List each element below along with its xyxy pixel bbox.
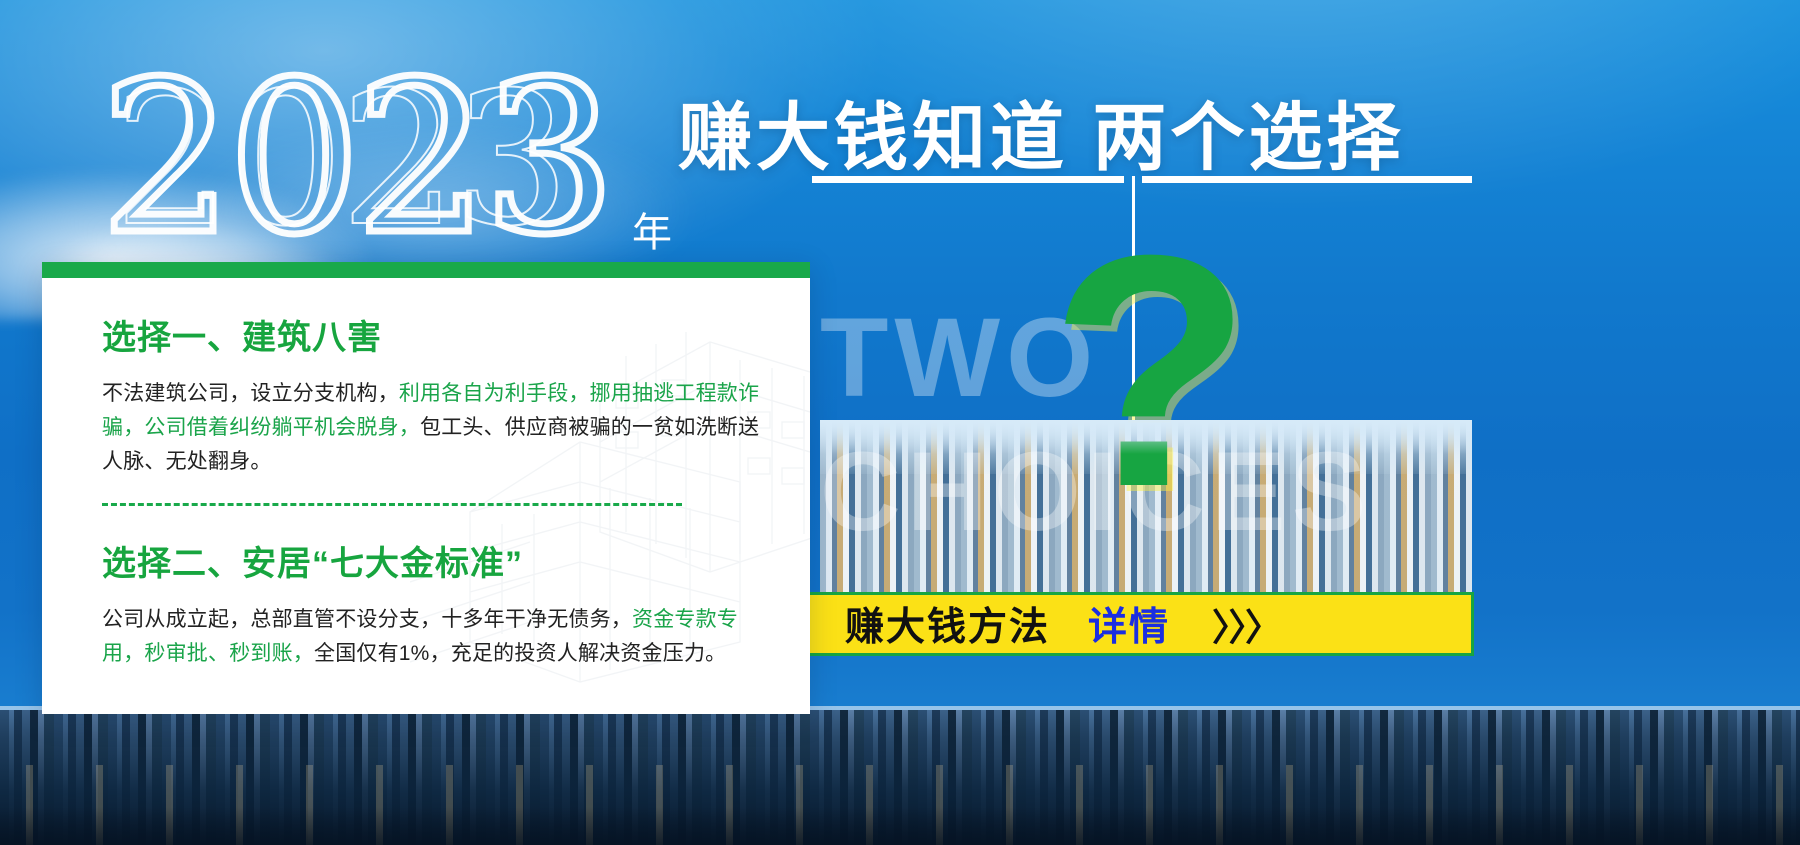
section-1-title: 选择一、建筑八害 bbox=[102, 310, 780, 359]
cta-banner[interactable]: 赚大钱方法 详情 〉〉〉 bbox=[806, 592, 1474, 656]
cta-detail-link[interactable]: 详情 bbox=[1088, 596, 1170, 652]
section-2-title: 选择二、安居“七大金标准” bbox=[102, 536, 780, 585]
year-suffix-label: 年 bbox=[632, 200, 673, 258]
card-section-2: 选择二、安居“七大金标准” 公司从成立起，总部直管不设分支，十多年干净无债务，资… bbox=[102, 536, 780, 671]
card-section-1: 选择一、建筑八害 不法建筑公司，设立分支机构，利用各自为利手段，挪用抽逃工程款诈… bbox=[102, 310, 780, 479]
panel-rule-left bbox=[812, 176, 1124, 183]
section-2-body-part-3: 全国仅有1%，充足的投资人解决资金压力。 bbox=[314, 642, 726, 665]
poster-root: 2023 2023 年 赚大钱知道 两个选择 TWO CHOICES ? 赚大钱… bbox=[0, 0, 1800, 845]
chevron-right-icon: 〉〉〉 bbox=[1212, 597, 1280, 651]
section-2-body: 公司从成立起，总部直管不设分支，十多年干净无债务，资金专款专用，秒审批、秒到账，… bbox=[102, 603, 780, 671]
card-content: 选择一、建筑八害 不法建筑公司，设立分支机构，利用各自为利手段，挪用抽逃工程款诈… bbox=[42, 262, 810, 671]
question-mark-icon: ? bbox=[1050, 206, 1252, 536]
content-card: 选择一、建筑八害 不法建筑公司，设立分支机构，利用各自为利手段，挪用抽逃工程款诈… bbox=[42, 262, 810, 714]
city-sky-gradient bbox=[820, 420, 1472, 454]
year-outline-inner: 2023 bbox=[114, 68, 566, 252]
section-1-body-part-1: 不法建筑公司，设立分支机构， bbox=[102, 382, 399, 405]
bottom-skyline-strip bbox=[0, 710, 1800, 845]
page-title: 赚大钱知道 两个选择 bbox=[678, 78, 1405, 185]
section-2-body-part-1: 公司从成立起，总部直管不设分支，十多年干净无债务， bbox=[102, 608, 632, 631]
section-1-body: 不法建筑公司，设立分支机构，利用各自为利手段，挪用抽逃工程款诈骗，公司借着纠纷躺… bbox=[102, 377, 780, 479]
section-divider bbox=[102, 503, 682, 506]
panel-rule-right bbox=[1142, 176, 1472, 183]
skyline-reflection bbox=[0, 807, 1800, 845]
cta-main-label: 赚大钱方法 bbox=[845, 596, 1050, 652]
